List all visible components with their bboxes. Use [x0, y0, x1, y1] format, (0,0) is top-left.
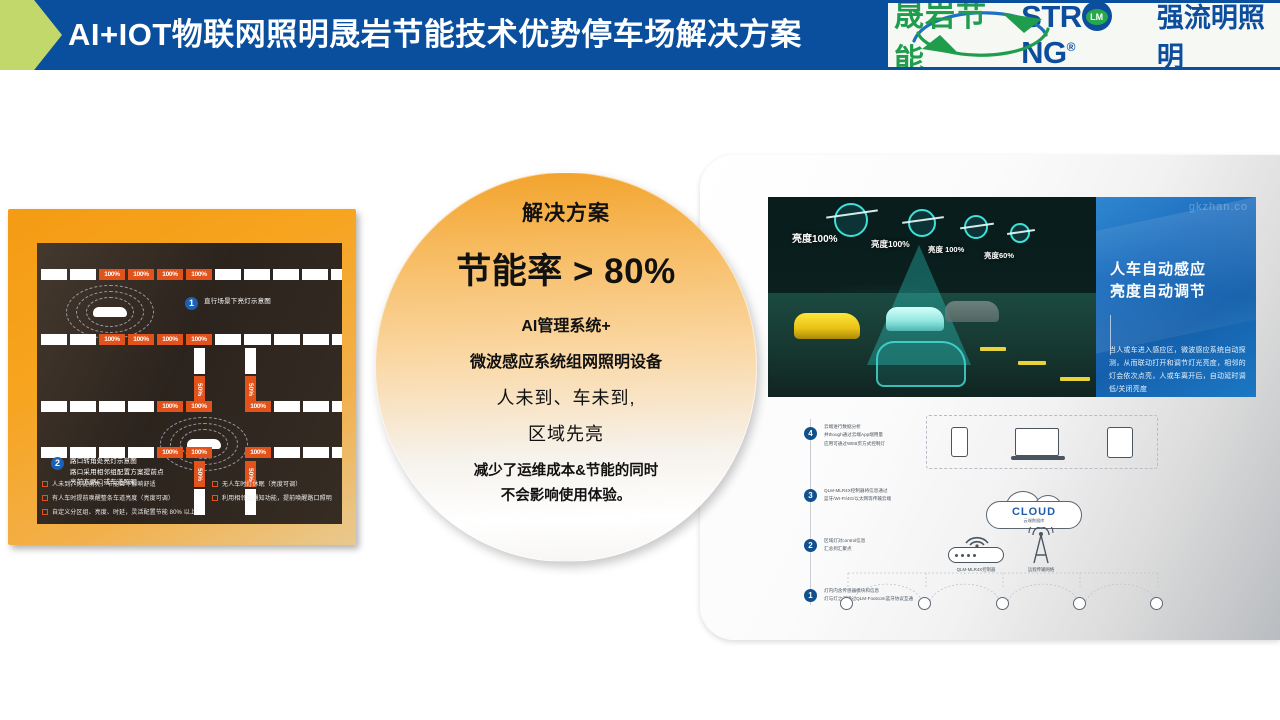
checkbox-icon: [42, 481, 48, 487]
brand-logo: 晟岩节能 STRLMNG® 强流明照明: [888, 3, 1280, 67]
legend-item: 无人车时灯休眠（亮度可调）: [212, 479, 338, 488]
lamp-segment: [331, 269, 342, 280]
lamp-segment: [303, 334, 329, 345]
yellow-car: [794, 313, 860, 339]
mesh-links: [838, 571, 1168, 621]
tablet-icon: [1107, 427, 1133, 458]
vehicle-sensor-zone: [65, 283, 155, 341]
blue-panel-description: 当人或车进入感应区，微波感应系统自动探测，从而联动打开和调节灯光亮度，相邻的灯会…: [1109, 345, 1247, 397]
oval-headline: 节能率 > 80%: [456, 243, 675, 294]
lamp-segment-active: 100%: [245, 447, 271, 458]
checkbox-icon: [42, 509, 48, 515]
brightness-tag: 亮度60%: [984, 250, 1014, 261]
luminaire-icon: [834, 203, 868, 237]
lamp-segment: [274, 334, 300, 345]
lamp-segment: [215, 269, 241, 280]
logo-strong-pre: STR: [1021, 3, 1082, 34]
lamp-segment: [332, 401, 342, 412]
logo-strong-text: STRLMNG®: [1021, 3, 1153, 67]
lamp-segment: [41, 401, 67, 412]
lamp-segment-active: 100%: [186, 447, 212, 458]
logo-o-mark: LM: [1082, 3, 1112, 31]
lamp-segment: [215, 334, 241, 345]
lamp-node-icon: [996, 597, 1009, 610]
oval-line-3: 人未到、车未到,: [496, 384, 635, 410]
lamp-node-icon: [918, 597, 931, 610]
legend-item: 人未到，灯提前亮，节能且不影响舒适: [42, 479, 212, 488]
legend-item: 利用相邻组通知功能，提前唤醒路口照明: [212, 493, 338, 502]
lamp-segment: [245, 348, 256, 374]
lamp-segment: [332, 334, 342, 345]
oval-line-6: 不会影响使用体验。: [501, 485, 632, 508]
lamp-segment: [245, 334, 271, 345]
lamp-segment: [70, 401, 96, 412]
lamp-node-icon: [1073, 597, 1086, 610]
oval-title: 解决方案: [522, 197, 610, 227]
watermark-text: gkzhan.co: [1189, 201, 1248, 213]
network-architecture-diagram: 4 云端进行数据分析 并though通过云端App端用量 应用可通过WEB页方式…: [788, 411, 1188, 621]
wireframe-car: [876, 341, 966, 387]
step-label-4: 云端进行数据分析 并though通过云端App端用量 应用可通过WEB页方式控制…: [824, 423, 885, 448]
client-devices-group: [926, 415, 1158, 469]
gray-car: [945, 301, 999, 322]
highlighted-car: [886, 307, 944, 331]
lamp-segment-active: 100%: [186, 334, 212, 345]
step-marker-3: 3: [804, 489, 817, 502]
lamp-segment: [303, 401, 329, 412]
phone-icon: [951, 427, 968, 457]
step-label-3: QLM-MLR4X控制器将信息通过 蓝牙/WI-FI/4G/以太网等传输云端: [824, 487, 891, 504]
parking-garage-photo: 亮度100% 亮度100% 亮度 100% 亮度60%: [768, 197, 1096, 397]
lamp-segment: [303, 447, 329, 458]
lamp-segment-active: 100%: [157, 401, 183, 412]
checkbox-icon: [212, 495, 218, 501]
step-marker-4: 4: [804, 427, 817, 440]
lamp-segment-active: 100%: [186, 269, 212, 280]
oval-line-5: 减少了运维成本&节能的同时: [474, 460, 658, 483]
parking-layout-diagram: 100% 100% 100% 100% 1 直行场景下亮灯示意图: [37, 243, 342, 524]
car-icon: [93, 307, 127, 317]
legend-list: 人未到，灯提前亮，节能且不影响舒适 无人车时灯休眠（亮度可调） 有人车时提前唤醒…: [42, 479, 338, 521]
lamp-segment: [70, 269, 96, 280]
lamp-segment: [302, 269, 328, 280]
blue-panel-title: 人车自动感应 亮度自动调节: [1110, 259, 1206, 303]
solution-oval: 解决方案 节能率 > 80% AI管理系统+ 微波感应系统组网照明设备 人未到、…: [375, 172, 757, 562]
lamp-segment: [244, 269, 270, 280]
right-gray-card: 亮度100% 亮度100% 亮度 100% 亮度60% gkzhan.co 人车…: [700, 155, 1280, 640]
lamp-segment: [70, 334, 96, 345]
step-marker-2: 2: [804, 539, 817, 552]
oval-line-4: 区域先亮: [528, 420, 604, 446]
checkbox-icon: [212, 481, 218, 487]
oval-line-1: AI管理系统+: [521, 312, 610, 336]
lamp-segment-active: 100%: [99, 269, 125, 280]
checkbox-icon: [42, 495, 48, 501]
cloud-icon: CLOUD 云端数据库: [986, 491, 1082, 531]
oval-line-2: 微波感应系统组网照明设备: [470, 348, 662, 372]
lamp-segment: [332, 447, 342, 458]
slide-root: AI+IOT物联网照明晟岩节能技术优势停车场解决方案 晟岩节能 STRLMNG®…: [0, 0, 1280, 720]
laptop-icon: [1015, 428, 1059, 456]
lamp-segment-active: 100%: [245, 401, 271, 412]
lamp-segment: [41, 269, 67, 280]
lamp-segment: [99, 401, 125, 412]
cloud-label: CLOUD: [986, 506, 1082, 518]
lamp-segment-active: 100%: [186, 401, 212, 412]
step-marker-1: 1: [804, 589, 817, 602]
lamp-segment-active: 100%: [157, 334, 183, 345]
cloud-sublabel: 云端数据库: [986, 518, 1082, 524]
lamp-segment-active: 100%: [157, 269, 183, 280]
brightness-tag: 亮度100%: [792, 230, 838, 245]
logo-strong-post: NG: [1021, 35, 1067, 67]
lamp-segment: [194, 348, 205, 374]
chevron-right-icon: [0, 0, 62, 70]
antenna-icon: [1024, 527, 1058, 565]
page-header: AI+IOT物联网照明晟岩节能技术优势停车场解决方案 晟岩节能 STRLMNG®…: [0, 0, 1280, 70]
lamp-segment-active: 50%: [245, 376, 256, 402]
blue-info-panel: gkzhan.co 人车自动感应 亮度自动调节 当人或车进入感应区，微波感应系统…: [1096, 197, 1256, 397]
brightness-tag: 亮度 100%: [928, 244, 964, 255]
luminaire-icon: [908, 209, 936, 237]
lamp-segment-active: 100%: [128, 334, 154, 345]
lamp-segment: [128, 401, 154, 412]
registered-icon: ®: [1067, 40, 1075, 54]
wifi-icon: [964, 529, 990, 547]
lamp-segment: [41, 334, 67, 345]
lamp-segment-active: 50%: [194, 376, 205, 402]
lamp-node-icon: [840, 597, 853, 610]
step-label-2: 区域灯对control信息 汇总到汇聚点: [824, 537, 865, 554]
callout-1: 1 直行场景下亮灯示意图: [185, 297, 271, 310]
left-orange-panel: 100% 100% 100% 100% 1 直行场景下亮灯示意图: [8, 209, 356, 545]
lamp-segment: [274, 401, 300, 412]
legend-item: 有人车时提前唤醒整条车道亮度（亮度可调）: [42, 493, 212, 502]
brightness-tag: 亮度100%: [871, 238, 910, 250]
logo-chinese-sub: 强流明照明: [1157, 3, 1280, 67]
router-icon: [948, 547, 1004, 563]
legend-item: 自定义分区组、亮度、时延，灵活配置节能 80% 以上: [42, 507, 338, 516]
logo-chinese-brand: 晟岩节能: [888, 3, 1013, 67]
lamp-segment-active: 100%: [128, 269, 154, 280]
lamp-segment-active: 100%: [99, 334, 125, 345]
page-title: AI+IOT物联网照明晟岩节能技术优势停车场解决方案: [68, 0, 802, 70]
logo-lm-text: LM: [1086, 9, 1108, 25]
lamp-segment: [273, 269, 299, 280]
lamp-node-icon: [1150, 597, 1163, 610]
lamp-segment: [274, 447, 300, 458]
